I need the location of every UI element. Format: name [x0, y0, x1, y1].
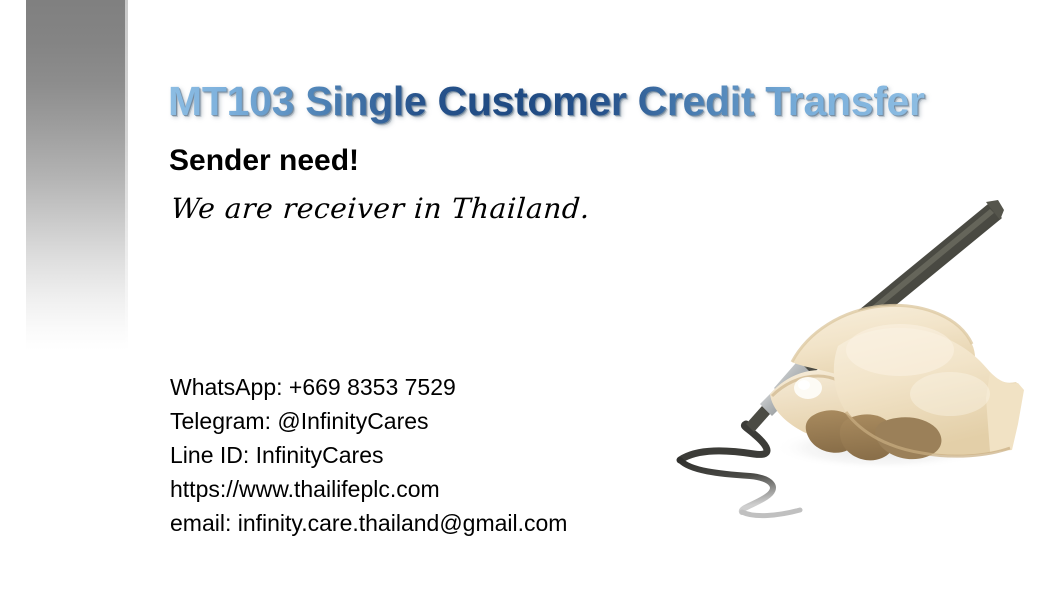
contact-line-telegram: Telegram: @InfinityCares — [170, 404, 567, 438]
contact-line-email[interactable]: email: infinity.care.thailand@gmail.com — [170, 506, 567, 540]
contact-line-website[interactable]: https://www.thailifeplc.com — [170, 472, 567, 506]
contact-block: WhatsApp: +669 8353 7529 Telegram: @Infi… — [170, 370, 567, 540]
page-title: MT103 Single Customer Credit Transfer — [168, 78, 925, 125]
left-gradient-bar — [26, 0, 125, 350]
slide-canvas: MT103 Single Customer Credit Transfer MT… — [0, 0, 1063, 600]
left-gradient-bar-edge — [125, 0, 128, 350]
contact-line-whatsapp: WhatsApp: +669 8353 7529 — [170, 370, 567, 404]
receiver-script-line: We are receiver in Thailand. — [170, 192, 591, 225]
hand-writing-with-pen-icon — [650, 198, 1030, 528]
sender-need-heading: Sender need! — [169, 144, 359, 178]
contact-line-lineid: Line ID: InfinityCares — [170, 438, 567, 472]
